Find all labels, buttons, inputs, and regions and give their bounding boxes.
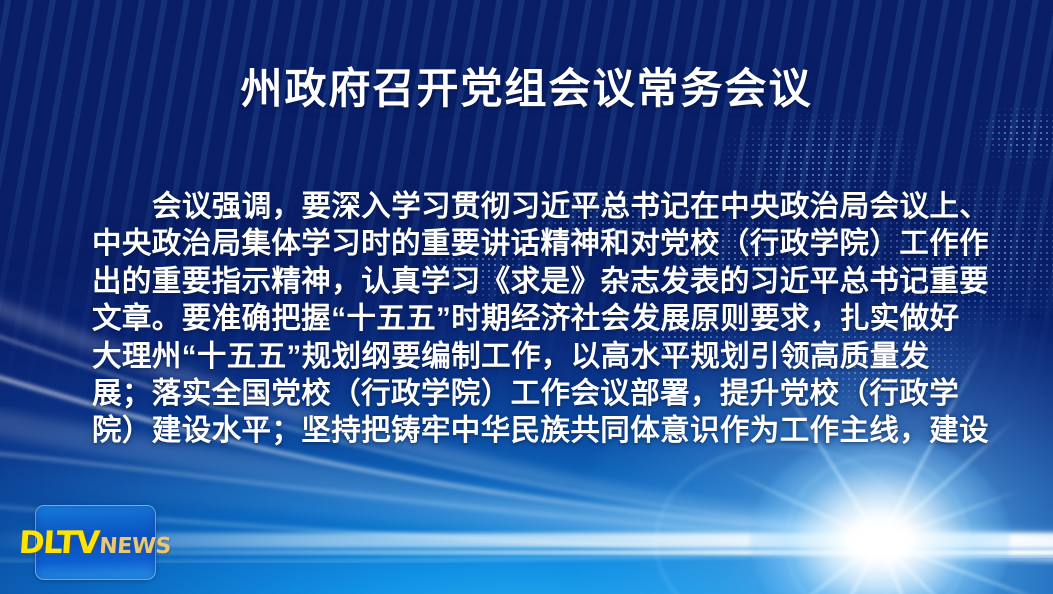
body-line: 展；落实全国党校（行政学院）工作会议部署，提升党校（行政学 bbox=[92, 375, 964, 412]
broadcast-news-slide: 州政府召开党组会议常务会议 会议强调，要深入学习贯彻习近平总书记在中央政治局会议… bbox=[0, 0, 1053, 594]
logo-text-group: DLTV NEWS bbox=[18, 525, 173, 561]
body-line: 会议强调，要深入学习贯彻习近平总书记在中央政治局会议上、 bbox=[92, 188, 964, 225]
body-line: 中央政治局集体学习时的重要讲话精神和对党校（行政学院）工作作 bbox=[92, 225, 964, 262]
body-line: 出的重要指示精神，认真学习《求是》杂志发表的习近平总书记重要 bbox=[92, 263, 964, 300]
body-line: 大理州“十五五”规划纲要编制工作，以高水平规划引领高质量发 bbox=[92, 338, 964, 375]
channel-logo: DLTV NEWS bbox=[35, 505, 156, 580]
logo-primary-text: DLTV bbox=[18, 525, 100, 561]
body-line: 院）建设水平；坚持把铸牢中华民族共同体意识作为工作主线，建设 bbox=[92, 412, 964, 449]
body-line: 文章。要准确把握“十五五”时期经济社会发展原则要求，扎实做好 bbox=[92, 300, 964, 337]
news-body-text: 会议强调，要深入学习贯彻习近平总书记在中央政治局会议上、 中央政治局集体学习时的… bbox=[92, 188, 964, 450]
logo-secondary-text: NEWS bbox=[99, 534, 172, 559]
page-title: 州政府召开党组会议常务会议 bbox=[0, 64, 1053, 114]
